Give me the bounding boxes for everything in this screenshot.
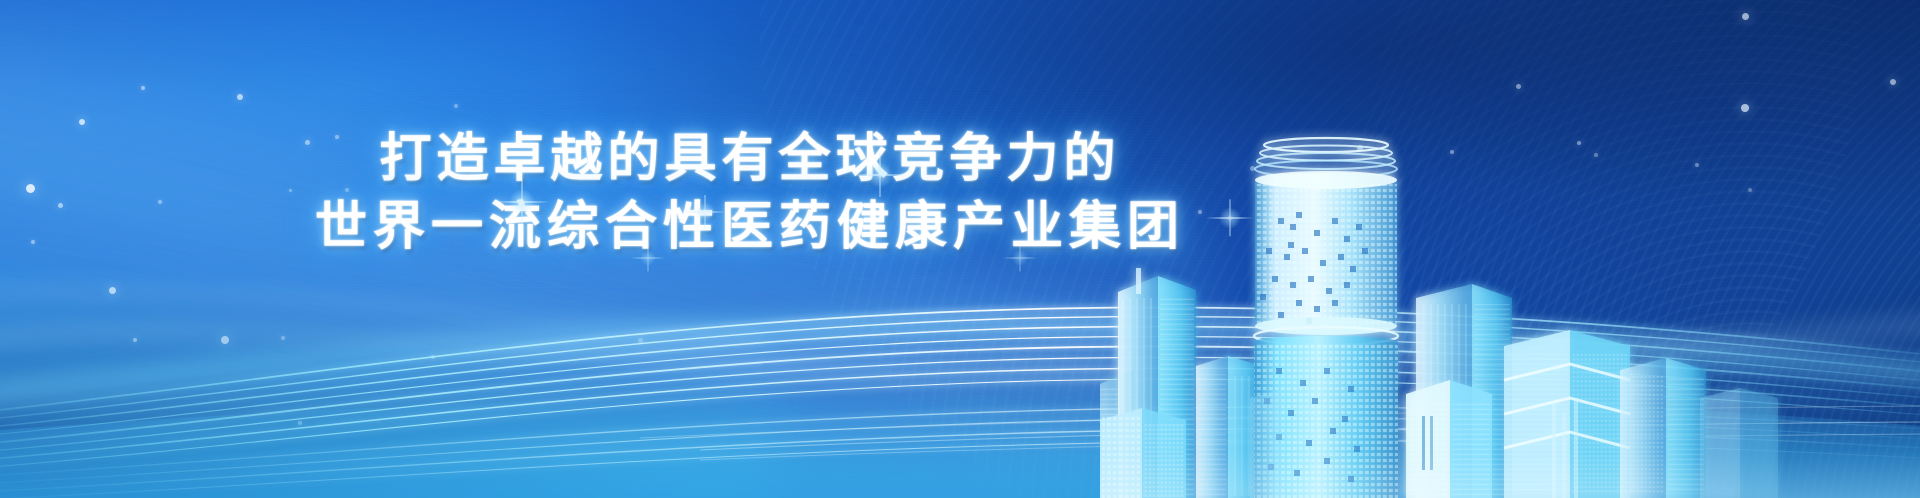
building-stepped-right (1504, 330, 1630, 498)
particle-dot (1198, 210, 1202, 214)
particle-dot (31, 240, 35, 244)
sparkle-flare-layer (0, 0, 1920, 498)
teal-light-wedge (0, 210, 789, 498)
radial-arc-texture-2 (760, 0, 1860, 498)
wave-streaks-right (640, 406, 1920, 460)
tower-crown-rings (1255, 138, 1397, 178)
sparkle-flare (695, 202, 715, 222)
particle-dot (431, 355, 435, 359)
particle-dot (1748, 188, 1752, 192)
wave-filaments-upper (0, 307, 1920, 468)
particle-dot (345, 188, 349, 192)
cylindrical-tower (1250, 138, 1405, 498)
grain-overlay (0, 0, 1920, 498)
tower-window-grid-upper (1250, 184, 1405, 332)
radial-arc-texture-1 (1302, 0, 1920, 498)
mist-ribbons (0, 292, 1920, 373)
particle-dot (1577, 141, 1581, 145)
particle-dot (237, 94, 243, 100)
flowing-light-waves (0, 198, 1920, 498)
headline-line-1: 打造卓越的具有全球竞争力的 (0, 126, 1500, 194)
skyline-base-reflection (1100, 450, 1920, 498)
sparkle-flare (1219, 207, 1241, 229)
particle-dot (1357, 145, 1363, 151)
particle-dot (638, 338, 643, 343)
particle-dot (141, 86, 145, 90)
particle-dot (109, 287, 116, 294)
particle-dot (1450, 150, 1454, 154)
sparkle-flare (1012, 250, 1028, 266)
building-far-right-cluster (1552, 358, 1706, 498)
hero-banner: 打造卓越的具有全球竞争力的 世界一流综合性医药健康产业集团 (0, 0, 1920, 498)
headline-line-2: 世界一流综合性医药健康产业集团 (0, 194, 1500, 262)
sparkle-flare (509, 189, 535, 215)
city-skyline-svg (1100, 98, 1920, 498)
background-silhouettes (1250, 388, 1778, 498)
particle-layer (0, 0, 1920, 498)
building-left-front (1100, 408, 1186, 498)
particle-dot (1695, 163, 1699, 167)
particle-dot (1516, 84, 1521, 89)
building-right-tall (1416, 284, 1512, 498)
ground-plane (0, 393, 1920, 498)
sparkle-flare (867, 162, 893, 188)
particle-dot (1178, 298, 1182, 302)
wave-glow-plate (0, 308, 1920, 498)
building-left-tall (1118, 268, 1196, 498)
wave-filaments-lower (0, 407, 1920, 498)
city-skyline (1100, 98, 1920, 498)
particle-dot (58, 203, 63, 208)
particle-dot (305, 140, 310, 145)
building-front-slim (1406, 380, 1492, 498)
light-sweep-3 (0, 20, 1291, 498)
light-sweep-4 (0, 150, 1370, 498)
light-sweep-2 (0, 0, 1295, 498)
particle-dot (221, 336, 229, 344)
vignette-overlay (0, 0, 1920, 498)
particle-dot (1250, 166, 1255, 171)
wave-glow-band (0, 325, 1920, 394)
particle-dot (158, 200, 162, 204)
particle-dot (289, 189, 292, 192)
particle-dot (281, 336, 285, 340)
headline-block: 打造卓越的具有全球竞争力的 世界一流综合性医药健康产业集团 (0, 126, 1500, 262)
particle-dot (1890, 79, 1896, 85)
particle-dot (1742, 13, 1749, 20)
waves-svg (0, 198, 1920, 498)
building-far-left (1100, 370, 1134, 498)
light-sweep-1 (0, 0, 1243, 498)
particle-dot (1741, 104, 1749, 112)
sparkle-flare (640, 250, 656, 266)
particle-dot (79, 119, 85, 125)
particle-dot (133, 338, 137, 342)
particle-dot (335, 135, 339, 139)
particle-dot (1594, 153, 1598, 157)
tower-window-grid-lower (1250, 344, 1405, 498)
building-mid-left-thin (1196, 356, 1262, 498)
particle-dot (298, 421, 302, 425)
particle-dot (26, 184, 35, 193)
particle-dot (454, 104, 458, 108)
